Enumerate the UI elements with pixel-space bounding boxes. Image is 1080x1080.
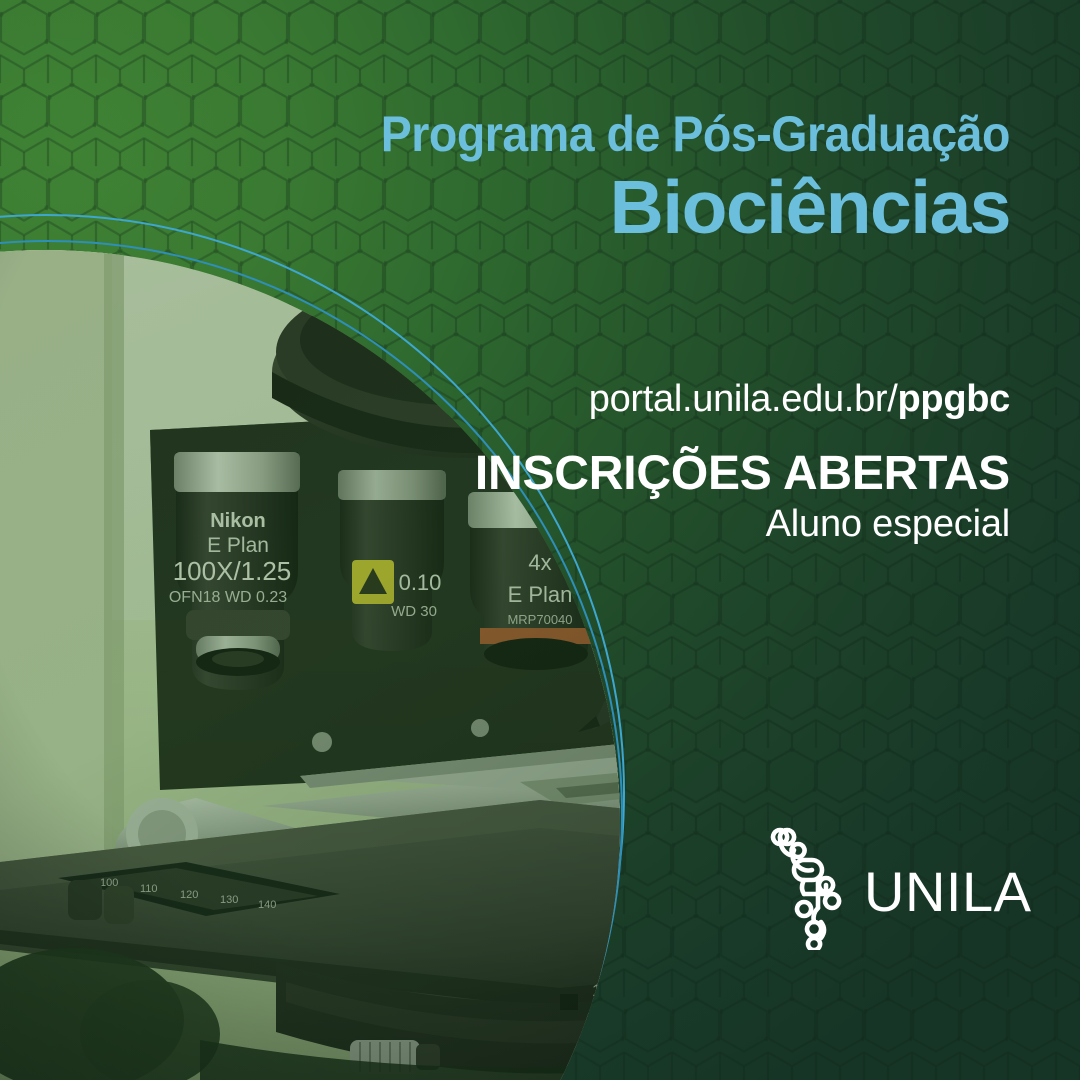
url-slug: ppgbc — [898, 378, 1010, 420]
microscope-photo: Nikon E Plan 100X/1.25 OFN18 WD 0.23 — [0, 250, 620, 1080]
unila-logo: UNILA — [760, 818, 992, 950]
microscope-illustration: Nikon E Plan 100X/1.25 OFN18 WD 0.23 — [0, 250, 620, 1080]
call-to-action: INSCRIÇÕES ABERTAS — [310, 447, 1010, 501]
website-url[interactable]: portal.unila.edu.br/ppgbc — [310, 379, 1010, 421]
info-block: portal.unila.edu.br/ppgbc INSCRIÇÕES ABE… — [310, 379, 1010, 545]
course-title: Biociências — [310, 165, 1010, 251]
unila-wordmark: UNILA — [864, 864, 1031, 920]
subtitle: Aluno especial — [310, 503, 1010, 546]
headline-block: Programa de Pós-Graduação Biociências — [310, 108, 1010, 251]
program-label: Programa de Pós-Graduação — [359, 108, 1010, 161]
unila-curvy-mark-icon — [760, 818, 856, 950]
url-base: portal.unila.edu.br/ — [589, 378, 898, 420]
poster-canvas: Nikon E Plan 100X/1.25 OFN18 WD 0.23 — [0, 0, 1080, 1080]
